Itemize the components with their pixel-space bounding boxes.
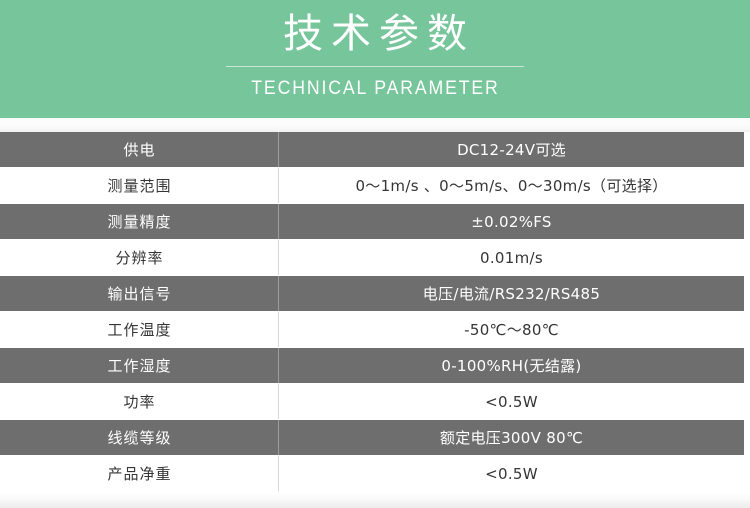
page-subtitle: TECHNICAL PARAMETER [250, 74, 500, 104]
table-row: 线缆等级额定电压300V 80℃ [0, 420, 744, 455]
table-row: 工作湿度0-100%RH(无结露) [0, 348, 744, 383]
table-row: 产品净重<0.5W [0, 455, 744, 492]
parameter-label: 工作湿度 [0, 348, 278, 383]
parameter-value: <0.5W [278, 384, 744, 419]
parameter-label: 供电 [0, 132, 278, 167]
specification-table: 供电DC12-24V可选测量范围0～1m/s 、0～5m/s、0～30m/s（可… [0, 132, 750, 492]
parameter-label: 线缆等级 [0, 420, 278, 455]
table-row: 功率<0.5W [0, 383, 744, 420]
parameter-value: 0～1m/s 、0～5m/s、0～30m/s（可选择） [278, 168, 744, 203]
parameter-value: ±0.02%FS [278, 204, 744, 239]
parameter-label: 输出信号 [0, 276, 278, 311]
parameter-label: 测量精度 [0, 204, 278, 239]
technical-parameter-page: 技术参数 TECHNICAL PARAMETER 供电DC12-24V可选测量范… [0, 0, 750, 499]
parameter-value: 0-100%RH(无结露) [278, 348, 744, 383]
table-row: 测量精度±0.02%FS [0, 204, 744, 239]
parameter-label: 分辨率 [0, 240, 278, 275]
parameter-value: 电压/电流/RS232/RS485 [278, 276, 744, 311]
table-row: 测量范围0～1m/s 、0～5m/s、0～30m/s（可选择） [0, 167, 744, 204]
page-header: 技术参数 TECHNICAL PARAMETER [0, 0, 750, 118]
parameter-value: 额定电压300V 80℃ [278, 420, 744, 455]
table-row: 分辨率0.01m/s [0, 239, 744, 276]
parameter-value: <0.5W [278, 456, 744, 491]
table-row: 工作温度-50℃～80℃ [0, 311, 744, 348]
parameter-label: 功率 [0, 384, 278, 419]
parameter-value: -50℃～80℃ [278, 312, 744, 347]
parameter-value: 0.01m/s [278, 240, 744, 275]
page-title: 技术参数 [275, 6, 475, 62]
table-row: 供电DC12-24V可选 [0, 132, 744, 167]
parameter-label: 产品净重 [0, 456, 278, 491]
title-divider [226, 66, 524, 67]
parameter-label: 工作温度 [0, 312, 278, 347]
header-table-gap [0, 118, 750, 132]
page-bottom-strip [0, 492, 750, 508]
parameter-label: 测量范围 [0, 168, 278, 203]
table-row: 输出信号电压/电流/RS232/RS485 [0, 276, 744, 311]
parameter-value: DC12-24V可选 [278, 132, 744, 167]
